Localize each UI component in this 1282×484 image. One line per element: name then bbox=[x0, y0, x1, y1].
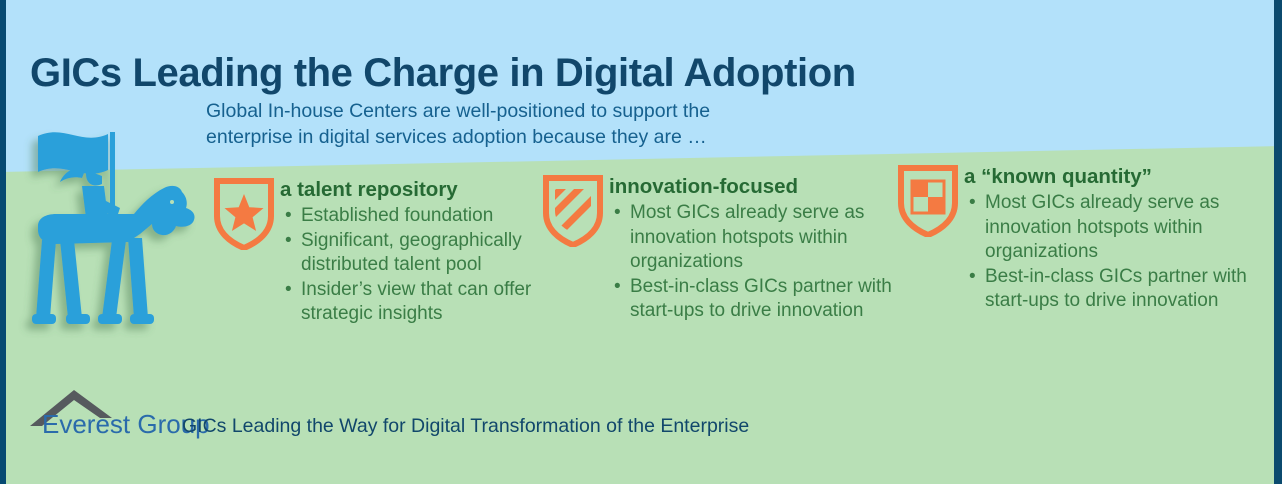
bullet-glyph: • bbox=[285, 204, 292, 229]
bullet-glyph: • bbox=[969, 265, 976, 290]
column-bullet-list: •Most GICs already serve as innovation h… bbox=[964, 191, 1264, 314]
column-heading: a “known quantity” bbox=[964, 165, 1264, 189]
column-heading: a talent repository bbox=[280, 178, 580, 202]
list-item: •Most GICs already serve as innovation h… bbox=[964, 191, 1264, 265]
column-heading: innovation-focused bbox=[609, 175, 899, 199]
column-body: a “known quantity” •Most GICs already se… bbox=[964, 165, 1264, 314]
shield-checkerboard-icon bbox=[898, 165, 958, 237]
list-item-text: Best-in-class GICs partner with start-up… bbox=[630, 276, 892, 322]
bullet-glyph: • bbox=[969, 191, 976, 216]
column-body: innovation-focused •Most GICs already se… bbox=[609, 175, 899, 324]
bullet-glyph: • bbox=[614, 275, 621, 300]
column-body: a talent repository •Established foundat… bbox=[280, 178, 580, 327]
list-item-text: Most GICs already serve as innovation ho… bbox=[985, 192, 1219, 262]
list-item: •Most GICs already serve as innovation h… bbox=[609, 201, 899, 275]
column-bullet-list: •Established foundation •Significant, ge… bbox=[280, 204, 580, 327]
page-subtitle: Global In-house Centers are well-positio… bbox=[206, 98, 846, 150]
column-bullet-list: •Most GICs already serve as innovation h… bbox=[609, 201, 899, 324]
shield-star-icon bbox=[214, 178, 274, 250]
bullet-glyph: • bbox=[285, 229, 292, 254]
left-border-stripe bbox=[0, 0, 6, 484]
shield-stripes-icon bbox=[543, 175, 603, 247]
footer-tagline: GICs Leading the Way for Digital Transfo… bbox=[182, 415, 749, 438]
knight-on-horseback-icon bbox=[16, 122, 216, 342]
list-item-text: Significant, geographically distributed … bbox=[301, 230, 522, 276]
slide-canvas: GICs Leading the Charge in Digital Adopt… bbox=[0, 0, 1282, 484]
list-item: •Best-in-class GICs partner with start-u… bbox=[609, 275, 899, 324]
page-title: GICs Leading the Charge in Digital Adopt… bbox=[30, 51, 856, 96]
right-border-stripe bbox=[1274, 0, 1282, 484]
list-item: •Established foundation bbox=[280, 204, 580, 229]
list-item-text: Best-in-class GICs partner with start-up… bbox=[985, 266, 1247, 312]
list-item: •Significant, geographically distributed… bbox=[280, 229, 580, 278]
list-item: •Best-in-class GICs partner with start-u… bbox=[964, 265, 1264, 314]
bullet-glyph: • bbox=[285, 278, 292, 303]
bullet-glyph: • bbox=[614, 201, 621, 226]
list-item-text: Most GICs already serve as innovation ho… bbox=[630, 202, 864, 272]
list-item-text: Established foundation bbox=[301, 205, 493, 226]
list-item: •Insider’s view that can offer strategic… bbox=[280, 278, 580, 327]
list-item-text: Insider’s view that can offer strategic … bbox=[301, 279, 531, 325]
